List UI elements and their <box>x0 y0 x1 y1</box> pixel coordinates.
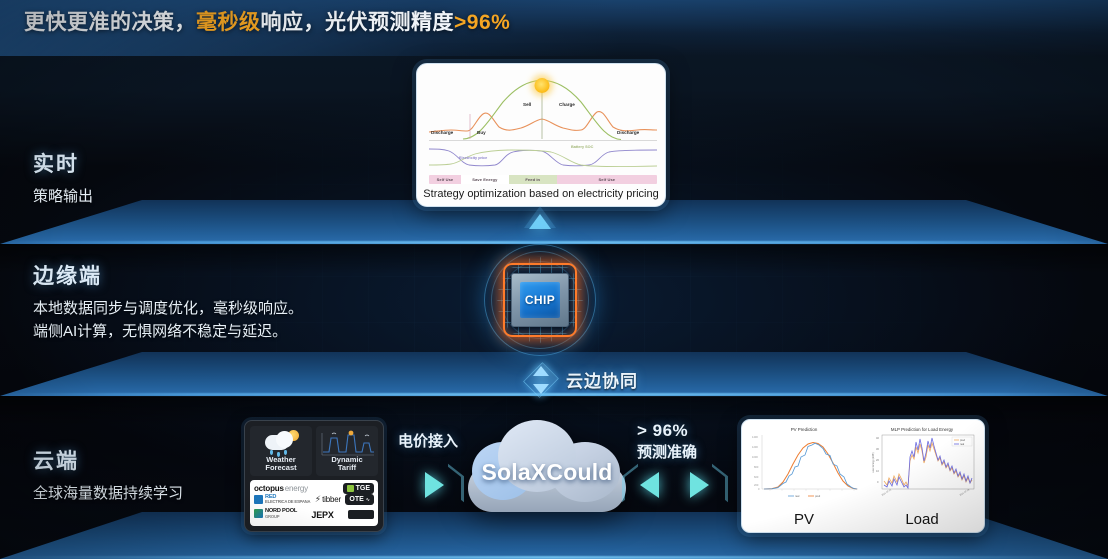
title-highlight: 毫秒级 <box>196 11 261 34</box>
svg-text:1200: 1200 <box>752 445 758 449</box>
source-card-weather[interactable]: Weather Forecast <box>250 426 312 476</box>
source-cards-row: Weather Forecast Dynamic Tariff <box>250 426 378 476</box>
chart-title: PV Prediction <box>747 427 861 432</box>
slide-canvas: 更快更准的决策，毫秒级响应，光伏预测精度>96% 实时 策略输出 边缘端 本地数… <box>0 0 1108 559</box>
nordpool-mark <box>254 509 263 518</box>
uplink-arrow-icon <box>529 214 551 229</box>
svg-text:30: 30 <box>876 447 879 451</box>
svg-text:2021-07-01: 2021-07-01 <box>881 489 892 497</box>
cloud-edge-sync-indicator <box>524 360 558 400</box>
chip-package: CHIP <box>511 273 569 327</box>
svg-text:0: 0 <box>758 487 760 491</box>
chip-die: CHIP <box>520 282 560 318</box>
label-battery-soc: Battery SOC <box>571 145 593 149</box>
cloud-edge-sync-label: 云边协同 <box>566 367 638 392</box>
wave-icon: ∿ <box>366 497 370 503</box>
zone-label-discharge-left: Discharge <box>431 130 453 135</box>
bolt-icon: ⚡ <box>315 494 321 505</box>
provider-logos: octopus energy TGE RED ELECTRICA DE ESPA… <box>250 480 378 526</box>
section-subtext: 策略输出 <box>33 186 93 209</box>
state-segment: Save Energy <box>461 175 509 184</box>
section-heading: 实时 <box>33 148 93 178</box>
svg-text:real: real <box>960 443 965 446</box>
data-sources-panel[interactable]: Weather Forecast Dynamic Tariff <box>244 420 384 532</box>
source-card-title: Weather Forecast <box>265 456 296 473</box>
logo-nord-pool[interactable]: NORD POOL GROUP <box>254 509 297 519</box>
source-card-tariff[interactable]: Dynamic Tariff <box>316 426 378 476</box>
section-subtext: 全球海量数据持续学习 <box>33 483 183 506</box>
section-label-realtime: 实时 策略输出 <box>33 148 93 209</box>
svg-text:600: 600 <box>754 475 759 479</box>
tariff-curve-icon <box>320 429 376 459</box>
title-part2: 响应，光伏预测精度 <box>261 11 455 34</box>
svg-text:10: 10 <box>876 469 879 473</box>
zone-label-sell: Sell <box>523 102 531 107</box>
chart-title: MLP Prediction for Load Energy <box>865 427 979 432</box>
svg-text:Load Energy (kWh): Load Energy (kWh) <box>872 452 875 473</box>
pv-legend: real pred <box>788 494 821 498</box>
logo-octopus-energy[interactable]: octopus energy <box>254 484 308 493</box>
pv-plot-area: 140012001000 800600200 0 real <box>750 433 858 501</box>
svg-text:1400: 1400 <box>752 435 758 439</box>
prediction-charts-panel[interactable]: PV Prediction 140012001000 800600200 0 <box>741 419 985 533</box>
accuracy-label: 预测准确 <box>637 441 697 462</box>
svg-text:20: 20 <box>876 458 879 462</box>
logo-red-electrica[interactable]: RED ELECTRICA DE ESPANA <box>254 495 310 505</box>
svg-text:pred: pred <box>960 439 966 442</box>
page-title: 更快更准的决策，毫秒级响应，光伏预测精度>96% <box>24 6 510 36</box>
tge-mark <box>347 485 354 492</box>
cloud-platform-name: SolaXCould <box>466 459 628 486</box>
rain-drop <box>270 450 273 455</box>
load-plot-area: 403020 100 Load Energy (kWh) 2021-07-01 … <box>868 433 976 501</box>
logo-jepx[interactable]: JEPX <box>311 505 333 523</box>
pv-prediction-chart: PV Prediction 140012001000 800600200 0 <box>747 425 861 527</box>
load-prediction-chart: MLP Prediction for Load Energy 403020 10… <box>865 425 979 527</box>
section-label-cloud: 云端 全球海量数据持续学习 <box>33 445 183 506</box>
logo-tibber[interactable]: ⚡ tibber <box>315 494 341 505</box>
label-electricity-price: Electricity price <box>459 156 487 160</box>
state-bar: Self Use Save Energy Feed in Self Use <box>429 175 657 184</box>
play-left-icon <box>640 472 659 498</box>
pv-curves: 140012001000 800600200 0 real <box>750 433 860 499</box>
logo-row: NORD POOL GROUP JEPX <box>254 505 374 523</box>
svg-text:40: 40 <box>876 436 879 440</box>
accuracy-value: > 96% <box>637 421 688 441</box>
svg-text:pred: pred <box>815 494 821 498</box>
logo-placeholder <box>348 510 374 519</box>
svg-text:0: 0 <box>877 480 879 484</box>
svg-text:real: real <box>795 494 800 498</box>
play-right-icon-2 <box>690 472 709 498</box>
logo-tge[interactable]: TGE <box>343 483 374 494</box>
play-right-icon <box>425 472 444 498</box>
edge-chip-graphic[interactable]: CHIP <box>478 243 602 357</box>
logo-ote[interactable]: OTE ∿ <box>345 494 374 505</box>
strategy-chart-card[interactable]: Discharge Buy Sell Charge Discharge Elec… <box>416 63 666 207</box>
chevron-up-icon <box>533 366 549 376</box>
section-heading: 云端 <box>33 445 183 475</box>
strategy-card-caption: Strategy optimization based on electrici… <box>417 188 665 200</box>
chip-label: CHIP <box>525 293 555 307</box>
inbound-flow-label: 电价接入 <box>398 430 458 451</box>
cloud-part <box>276 431 293 448</box>
section-label-edge: 边缘端 本地数据同步与调度优化，毫秒级响应。 端侧AI计算，无惧网络不稳定与延迟… <box>33 260 303 343</box>
svg-text:1000: 1000 <box>752 455 758 459</box>
svg-text:2021-07-08: 2021-07-08 <box>959 489 970 497</box>
zone-label-charge: Charge <box>559 102 575 107</box>
svg-text:200: 200 <box>754 483 759 487</box>
rain-drop <box>284 450 287 455</box>
red-mark <box>254 495 263 504</box>
title-highlight-value: >96% <box>454 11 510 34</box>
zone-label-buy: Buy <box>477 130 486 135</box>
chevron-down-icon <box>533 384 549 394</box>
load-legend: pred real <box>952 437 972 446</box>
cloud-rain-sun-icon <box>261 430 301 456</box>
section-heading: 边缘端 <box>33 260 303 290</box>
title-part1: 更快更准的决策， <box>24 11 196 34</box>
section-subtext: 本地数据同步与调度优化，毫秒级响应。 端侧AI计算，无惧网络不稳定与延迟。 <box>33 298 303 343</box>
load-label: Load <box>865 511 979 528</box>
load-curves: 403020 100 Load Energy (kWh) 2021-07-01 … <box>868 433 978 499</box>
rain-drop <box>277 452 280 457</box>
logo-row: RED ELECTRICA DE ESPANA ⚡ tibber OTE ∿ <box>254 494 374 505</box>
state-segment: Self Use <box>429 175 461 184</box>
svg-text:800: 800 <box>754 465 759 469</box>
strategy-plot: Discharge Buy Sell Charge Discharge Elec… <box>423 70 661 178</box>
state-segment: Feed in <box>509 175 557 184</box>
zone-label-discharge-right: Discharge <box>617 130 639 135</box>
sun-icon <box>535 78 550 93</box>
logo-row: octopus energy TGE <box>254 483 374 494</box>
state-segment: Self Use <box>557 175 657 184</box>
plot-divider <box>429 140 657 141</box>
pv-label: PV <box>747 511 861 528</box>
price-soc-band: Electricity price Battery SOC <box>429 143 657 172</box>
